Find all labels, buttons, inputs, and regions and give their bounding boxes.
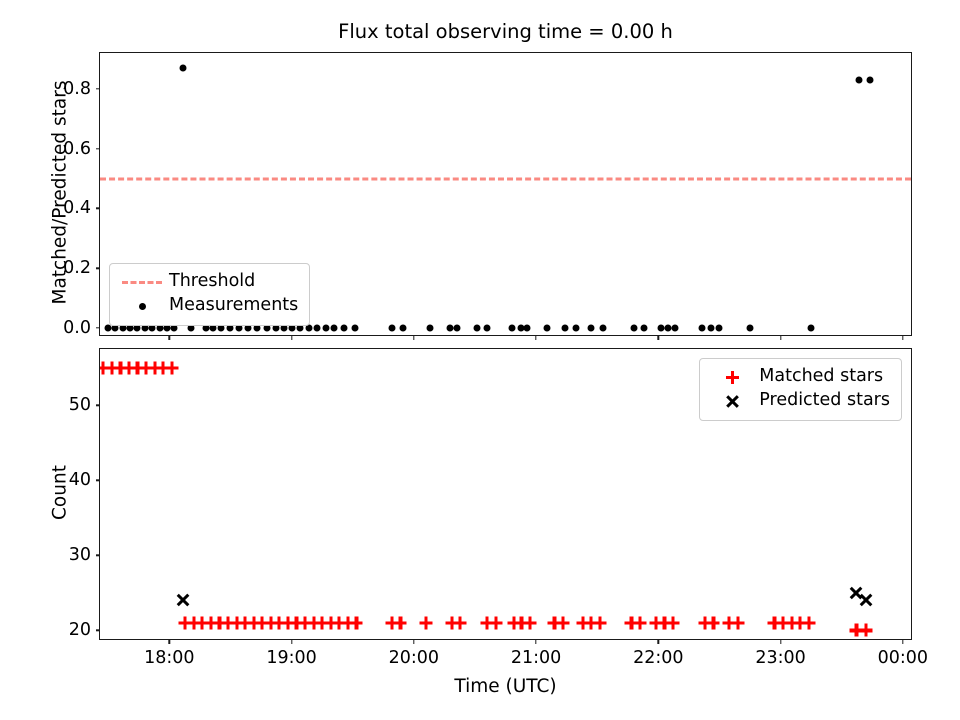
measurement-point: [665, 325, 672, 332]
matched-star-marker: [593, 616, 606, 629]
bottom-xtick-mark: [902, 639, 903, 644]
measurement-point: [352, 325, 359, 332]
legend-item-matched-stars: Matched stars: [709, 365, 890, 389]
measurement-point: [588, 325, 595, 332]
bottom-xtick-label: 23:00: [755, 648, 805, 668]
bottom-ytick-label: 30: [69, 545, 91, 565]
top-ytick-mark: [96, 268, 101, 269]
top-ytick-mark: [96, 327, 101, 328]
top-xtick-mark: [535, 335, 536, 340]
measurement-point: [484, 325, 491, 332]
measurement-point: [544, 325, 551, 332]
measurement-point: [388, 325, 395, 332]
bottom-xtick-mark: [169, 639, 170, 644]
measurement-point: [524, 325, 531, 332]
measurement-point: [630, 325, 637, 332]
matplotlib-figure: Flux total observing time = 0.00 h 0.00.…: [0, 0, 960, 720]
matched-star-marker: [556, 616, 569, 629]
bottom-ytick-label: 20: [69, 620, 91, 640]
measurement-point: [322, 325, 329, 332]
figure-title: Flux total observing time = 0.00 h: [99, 20, 912, 43]
measurement-point: [562, 325, 569, 332]
measurement-point: [716, 325, 723, 332]
point-marker-icon: [119, 294, 165, 318]
bottom-xtick-label: 19:00: [266, 648, 316, 668]
legend-label-threshold: Threshold: [165, 270, 255, 293]
measurement-point: [426, 325, 433, 332]
legend-label-measurements: Measurements: [165, 294, 298, 317]
bottom-ytick-mark: [96, 630, 101, 631]
bottom-ytick-label: 50: [69, 395, 91, 415]
measurement-point: [808, 325, 815, 332]
bottom-ytick-label: 40: [69, 470, 91, 490]
matched-star-marker: [454, 616, 467, 629]
legend-item-threshold: Threshold: [119, 270, 298, 294]
matched-star-marker: [523, 616, 536, 629]
matched-star-marker: [350, 616, 363, 629]
measurement-point: [341, 325, 348, 332]
bottom-ytick-mark: [96, 405, 101, 406]
legend-item-measurements: Measurements: [119, 294, 298, 318]
bottom-xtick-label: 22:00: [633, 648, 683, 668]
measurement-point: [314, 325, 321, 332]
top-ytick-mark: [96, 88, 101, 89]
matched-star-marker: [802, 616, 815, 629]
predicted-star-marker: [860, 594, 873, 607]
measurement-point: [699, 325, 706, 332]
matched-star-marker: [394, 616, 407, 629]
top-xtick-mark: [169, 335, 170, 340]
bottom-xtick-mark: [535, 639, 536, 644]
matched-star-marker: [707, 616, 720, 629]
top-xtick-mark: [902, 335, 903, 340]
measurement-point: [707, 325, 714, 332]
legend-label-predicted-stars: Predicted stars: [755, 389, 890, 412]
top-xtick-mark: [658, 335, 659, 340]
top-plot-legend: Threshold Measurements: [109, 263, 310, 326]
matched-star-marker: [420, 616, 433, 629]
bottom-xtick-label: 18:00: [144, 648, 194, 668]
top-ytick-mark: [96, 148, 101, 149]
bottom-xtick-label: 21:00: [511, 648, 561, 668]
plus-marker-icon: [709, 365, 755, 389]
top-y-axis-label: Matched/Predicted stars: [50, 51, 71, 335]
measurement-point: [746, 325, 753, 332]
bottom-xtick-label: 20:00: [389, 648, 439, 668]
matched-star-marker: [633, 616, 646, 629]
measurement-point: [179, 64, 186, 71]
bottom-ytick-mark: [96, 480, 101, 481]
top-xtick-mark: [291, 335, 292, 340]
bottom-xtick-label: 00:00: [878, 648, 928, 668]
legend-label-matched-stars: Matched stars: [755, 365, 883, 388]
top-xtick-mark: [780, 335, 781, 340]
measurement-point: [600, 325, 607, 332]
bottom-xtick-mark: [291, 639, 292, 644]
matched-star-marker: [860, 624, 873, 637]
dashed-line-icon: [119, 270, 165, 294]
matched-star-marker: [731, 616, 744, 629]
bottom-plot-legend: Matched stars Predicted stars: [699, 358, 902, 421]
measurement-point: [640, 325, 647, 332]
measurement-point: [453, 325, 460, 332]
measurement-point: [573, 325, 580, 332]
measurement-point: [399, 325, 406, 332]
top-xtick-mark: [413, 335, 414, 340]
measurement-point: [672, 325, 679, 332]
measurement-point: [474, 325, 481, 332]
predicted-star-marker: [176, 594, 189, 607]
measurement-point: [657, 325, 664, 332]
bottom-y-axis-label: Count: [50, 347, 71, 639]
matched-star-marker: [666, 616, 679, 629]
top-plot-axes: 0.00.20.40.60.8 Matched/Predicted stars …: [99, 52, 912, 336]
bottom-ytick-mark: [96, 555, 101, 556]
bottom-xtick-mark: [658, 639, 659, 644]
measurement-point: [508, 325, 515, 332]
measurement-point: [866, 76, 873, 83]
measurement-point: [331, 325, 338, 332]
matched-star-marker: [165, 361, 178, 374]
bottom-xtick-mark: [413, 639, 414, 644]
bottom-plot-axes: 20304050 18:0019:0020:0021:0022:0023:000…: [99, 348, 912, 640]
x-marker-icon: [709, 389, 755, 413]
threshold-line: [100, 177, 911, 180]
matched-star-marker: [489, 616, 502, 629]
legend-item-predicted-stars: Predicted stars: [709, 389, 890, 413]
x-axis-label: Time (UTC): [99, 676, 912, 697]
measurement-point: [855, 76, 862, 83]
bottom-xtick-mark: [780, 639, 781, 644]
top-ytick-mark: [96, 208, 101, 209]
